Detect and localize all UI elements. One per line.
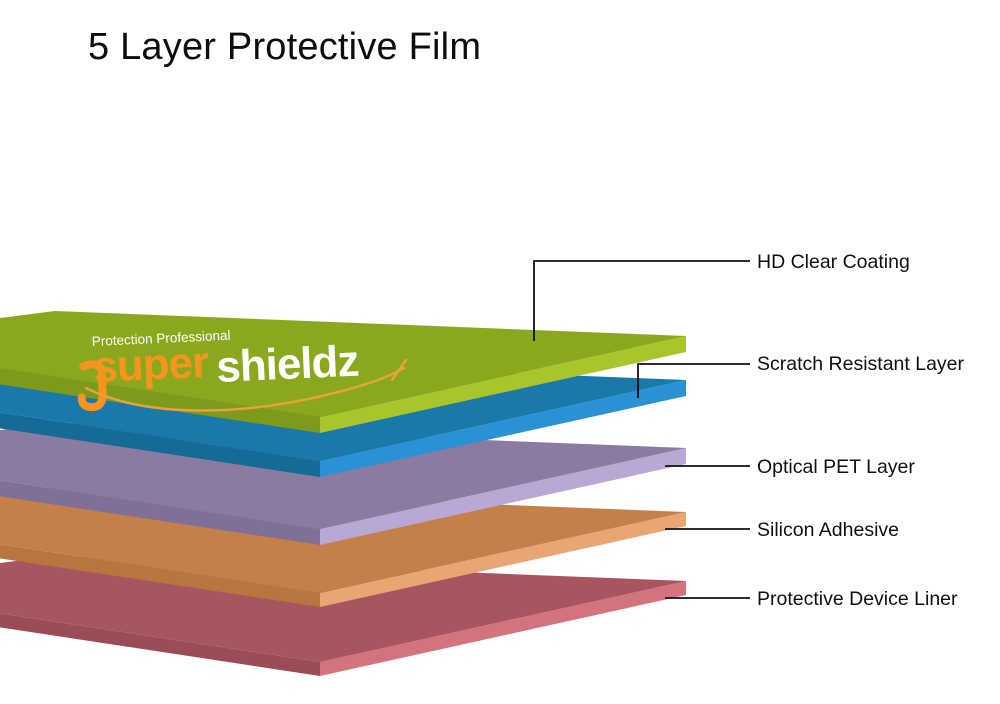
callout-label-optical-pet-layer[interactable]: Optical PET Layer — [757, 456, 915, 479]
brand-name-super: super — [92, 338, 210, 392]
callout-label-hd-clear-coating[interactable]: HD Clear Coating — [757, 251, 910, 274]
callout-label-silicon-adhesive[interactable]: Silicon Adhesive — [757, 519, 899, 542]
callout-label-scratch-resistant-layer[interactable]: Scratch Resistant Layer — [757, 353, 964, 376]
callout-label-protective-device-liner[interactable]: Protective Device Liner — [757, 588, 958, 611]
leader-line-hd-clear-coating — [534, 261, 750, 341]
diagram-canvas: 5 Layer Protective Film — [0, 0, 1000, 704]
brand-name-shieldz: shieldz — [215, 337, 359, 392]
